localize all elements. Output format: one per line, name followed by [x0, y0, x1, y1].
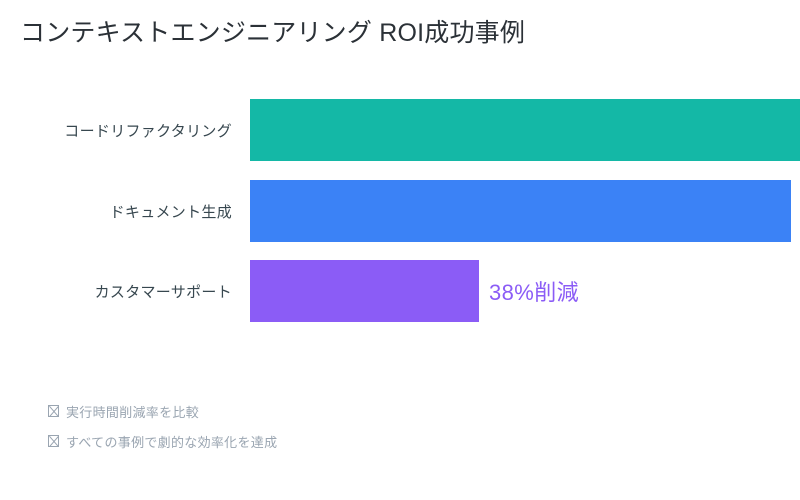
bar-category-label: コードリファクタリング [0, 99, 232, 161]
notes-list: 実行時間削減率を比較 すべての事例で劇的な効率化を達成 [48, 396, 648, 456]
note-text: すべての事例で劇的な効率化を達成 [66, 432, 277, 451]
bar-track [250, 180, 800, 242]
bar-category-label: カスタマーサポート [0, 260, 232, 322]
note-text: 実行時間削減率を比較 [66, 402, 199, 421]
bar-row: ドキュメント生成 [0, 180, 800, 242]
bar-category-label: ドキュメント生成 [0, 180, 232, 242]
list-item: すべての事例で劇的な効率化を達成 [48, 426, 648, 456]
bar-track [250, 99, 800, 161]
bar-fill-document-generation[interactable] [250, 180, 791, 242]
missing-glyph-box-icon [48, 435, 59, 447]
bar-track: 38%削減 [250, 260, 800, 322]
slide-canvas: コンテキストエンジニアリング ROI成功事例 コードリファクタリング ドキュメン… [0, 0, 800, 500]
bar-row: コードリファクタリング [0, 99, 800, 161]
bar-row: カスタマーサポート 38%削減 [0, 260, 800, 322]
bar-fill-customer-support[interactable] [250, 260, 479, 322]
bar-value-label: 38%削減 [489, 260, 579, 322]
bar-fill-code-refactoring[interactable] [250, 99, 800, 161]
missing-glyph-box-icon [48, 405, 59, 417]
list-item: 実行時間削減率を比較 [48, 396, 648, 426]
